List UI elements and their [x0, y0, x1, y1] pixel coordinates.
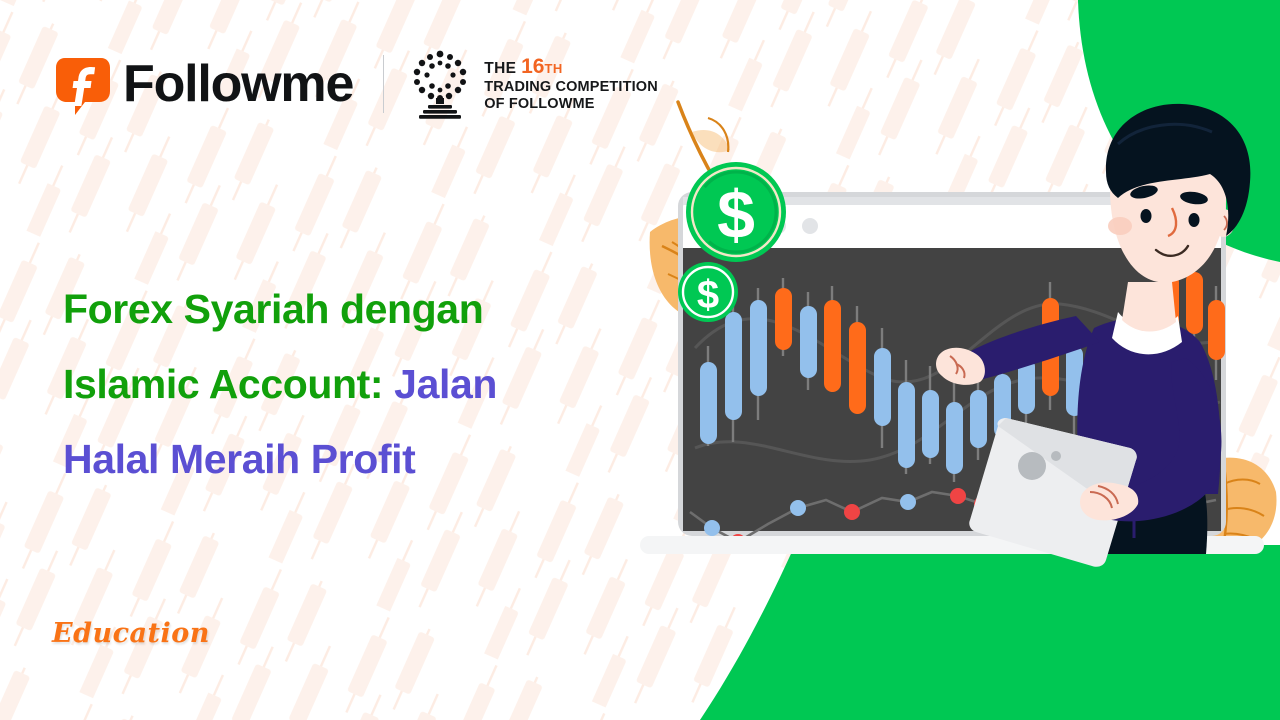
- header-divider: [383, 55, 384, 113]
- trading-illustration: $ $: [620, 60, 1280, 580]
- trophy-dots-icon: [410, 48, 470, 120]
- brand-wordmark: Followme: [123, 58, 353, 110]
- competition-edition-suffix: TH: [544, 61, 562, 76]
- competition-the: THE: [484, 60, 516, 77]
- headline-line-2-purple: Jalan: [394, 361, 497, 407]
- svg-text:$: $: [717, 177, 755, 253]
- category-label: Education: [52, 618, 210, 649]
- competition-badge: THE 16TH TRADING COMPETITION OF FOLLOWME: [410, 48, 658, 120]
- headline-line-2-green: Islamic Account:: [63, 361, 383, 407]
- brand-header: Followme: [55, 48, 658, 120]
- coin-small-icon: $: [678, 262, 738, 322]
- headline-line-1: Forex Syariah dengan: [63, 286, 483, 332]
- competition-line2: TRADING COMPETITION: [484, 79, 658, 96]
- competition-edition-number: 16: [521, 55, 544, 78]
- page-title: Forex Syariah dengan Islamic Account: Ja…: [63, 272, 623, 497]
- poster-canvas: Followme: [0, 0, 1280, 720]
- followme-f-logo-icon: [55, 56, 111, 112]
- headline-line-3: Halal Meraih Profit: [63, 436, 415, 482]
- svg-text:$: $: [697, 273, 719, 317]
- competition-line3: OF FOLLOWME: [484, 96, 658, 113]
